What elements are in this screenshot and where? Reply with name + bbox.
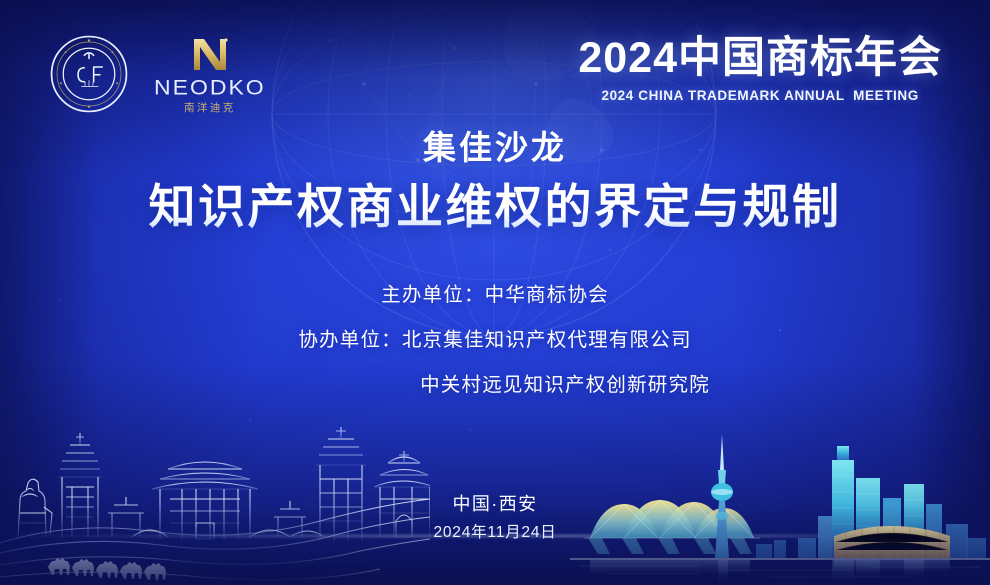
neodko-logo: NEODKO 南洋迪克 (154, 34, 266, 114)
neodko-wordmark: NEODKO (154, 77, 266, 98)
organizers-block: 主办单位：中华商标协会 协办单位：北京集佳知识产权代理有限公司 中关村远见知识产… (0, 278, 990, 397)
organizer-row: 中关村远见知识产权创新研究院 (280, 368, 710, 397)
china-trademark-festival-logo (50, 35, 128, 113)
organizer-row: 协办单位：北京集佳知识产权代理有限公司 (298, 323, 691, 352)
logo-group: NEODKO 南洋迪克 (50, 34, 266, 114)
salon-label: 集佳沙龙 (0, 128, 990, 168)
meeting-title-block: 2024中国商标年会 2024 CHINA TRADEMARK ANNUAL M… (578, 36, 942, 103)
neodko-chinese-name: 南洋迪克 (184, 103, 236, 114)
venue-city: 中国·西安 (0, 492, 990, 516)
meeting-title-cn: 2024中国商标年会 (578, 36, 942, 81)
conference-poster: NEODKO 南洋迪克 2024中国商标年会 2024 CHINA TRADEM… (0, 0, 990, 585)
meeting-title-en: 2024 CHINA TRADEMARK ANNUAL MEETING (578, 88, 942, 103)
poster-header: NEODKO 南洋迪克 2024中国商标年会 2024 CHINA TRADEM… (0, 0, 990, 128)
neodko-n-mark-icon (190, 36, 230, 73)
poster-main-content: 集佳沙龙 知识产权商业维权的界定与规制 主办单位：中华商标协会 协办单位：北京集… (0, 128, 990, 397)
organizer-row: 主办单位：中华商标协会 (381, 278, 609, 307)
venue-date: 2024年11月24日 (0, 520, 990, 542)
page-title: 知识产权商业维权的界定与规制 (0, 179, 990, 238)
venue-block: 中国·西安 2024年11月24日 (0, 492, 990, 542)
